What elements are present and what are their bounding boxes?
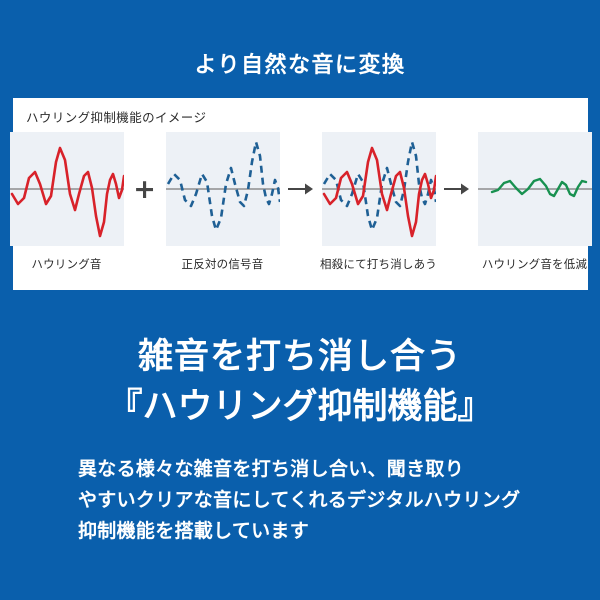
page-title: より自然な音に変換 [0, 52, 600, 78]
diagram-step-2-caption: 正反対の信号音 [182, 256, 264, 272]
green-waveform [492, 179, 586, 196]
diagram-step-3: 相殺にて打ち消しあう [322, 132, 436, 272]
diagram-step-3-caption: 相殺にて打ち消しあう [320, 256, 437, 272]
diagram-step-4: ハウリング音を低減 [478, 132, 592, 272]
card-label: ハウリング抑制機能のイメージ [26, 107, 206, 126]
waveform-panel-antiphase [166, 132, 280, 246]
body-line-1: 異なる様々な雑音を打ち消し合い、聞き取り [78, 455, 538, 486]
waveform-panel-cancellation [322, 132, 436, 246]
connector-arrow-2 [436, 132, 478, 246]
arrow-right-icon [444, 182, 470, 196]
body-line-3: 抑制機能を搭載しています [78, 517, 538, 548]
diagram-step-1-caption: ハウリング音 [31, 256, 101, 272]
headline-line-2: 『ハウリング抑制機能』 [0, 382, 600, 432]
connector-plus: + [124, 132, 166, 246]
body-line-2: やすいクリアな音にしてくれるデジタルハウリング [78, 486, 538, 517]
headline-line-1: 雑音を打ち消し合う [0, 332, 600, 382]
plus-icon: + [133, 176, 156, 203]
headline: 雑音を打ち消し合う 『ハウリング抑制機能』 [0, 332, 600, 431]
arrow-right-icon [288, 182, 314, 196]
blue-waveform [168, 142, 280, 230]
red-waveform [12, 148, 124, 236]
howling-suppression-diagram: ハウリング音 + 正反対の信号音 [13, 132, 588, 287]
diagram-card: ハウリング抑制機能のイメージ ハウリング音 + 正反対 [13, 98, 588, 290]
waveform-panel-howling [10, 132, 124, 246]
diagram-step-1: ハウリング音 [10, 132, 124, 272]
diagram-step-4-caption: ハウリング音を低減 [482, 256, 587, 272]
body-copy: 異なる様々な雑音を打ち消し合い、聞き取り やすいクリアな音にしてくれるデジタルハ… [78, 455, 538, 547]
connector-arrow-1 [280, 132, 322, 246]
diagram-step-2: 正反対の信号音 [166, 132, 280, 272]
waveform-panel-reduced [478, 132, 592, 246]
